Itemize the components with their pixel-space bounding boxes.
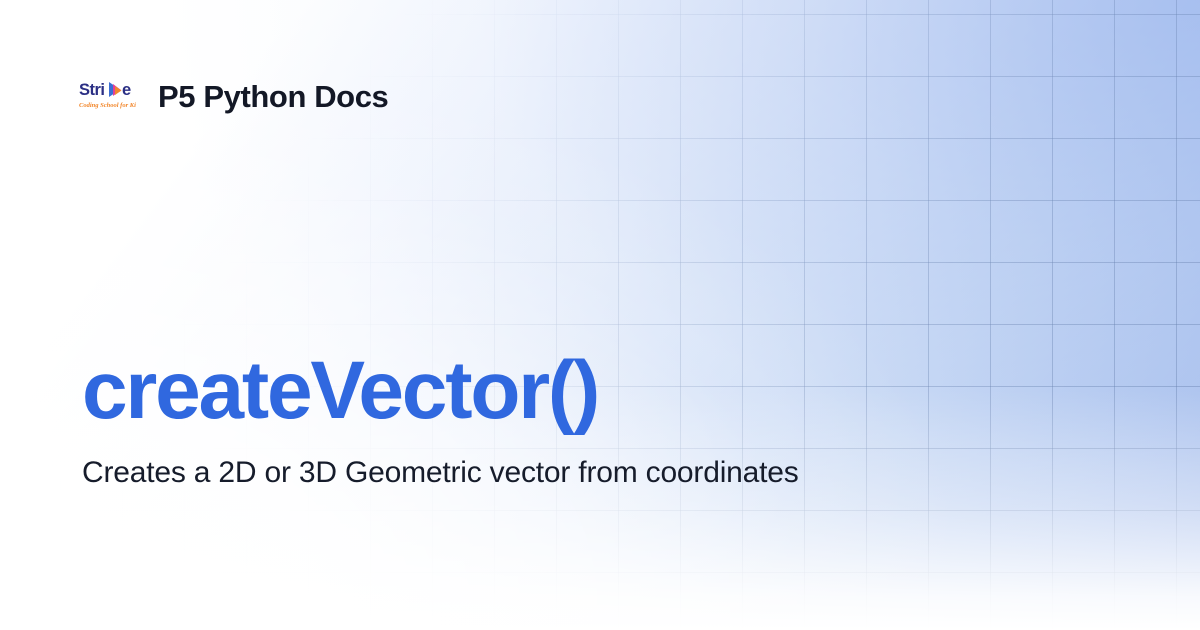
- main-content: createVector() Creates a 2D or 3D Geomet…: [82, 348, 962, 493]
- svg-text:Coding School for Kids: Coding School for Kids: [79, 102, 136, 109]
- site-title: P5 Python Docs: [158, 81, 388, 112]
- stride-logo-icon: Stri e Coding School for Kids: [78, 76, 136, 116]
- svg-text:e: e: [122, 81, 131, 99]
- page-subtitle: Creates a 2D or 3D Geometric vector from…: [82, 453, 817, 493]
- svg-text:Stri: Stri: [79, 81, 105, 99]
- og-card: Stri e Coding School for Kids P5 Python …: [0, 0, 1200, 630]
- page-title: createVector(): [82, 348, 962, 433]
- site-header: Stri e Coding School for Kids P5 Python …: [78, 76, 388, 116]
